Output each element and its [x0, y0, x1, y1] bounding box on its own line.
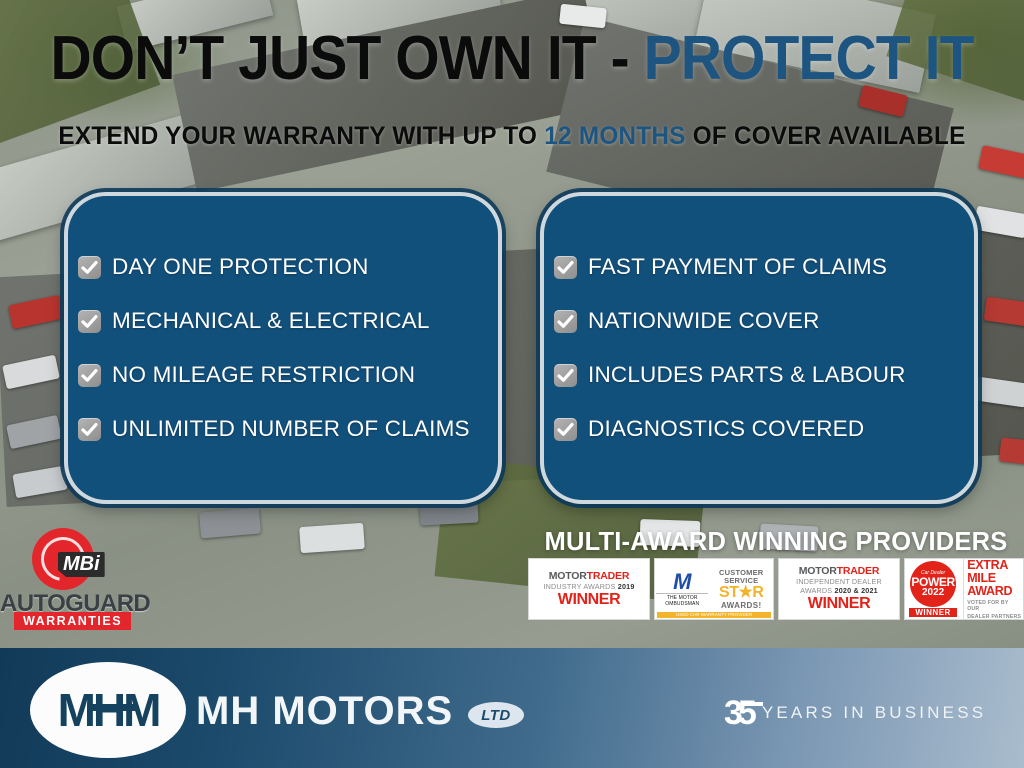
awards-heading: MULTI-AWARD WINNING PROVIDERS [528, 528, 1024, 557]
feature-label: NO MILEAGE RESTRICTION [112, 362, 415, 388]
badge-ribbon: USED CAR WARRANTY PROVIDER [657, 612, 771, 618]
check-icon [554, 256, 577, 279]
feature-label: DAY ONE PROTECTION [112, 254, 369, 280]
mhm-crossbar-icon [91, 704, 135, 711]
list-item: DIAGNOSTICS COVERED [554, 416, 960, 442]
feature-label: INCLUDES PARTS & LABOUR [588, 362, 906, 388]
award-badge-car-dealer-power: Car Dealer POWER 2022 WINNER EXTRA MILE … [904, 558, 1024, 620]
check-icon [78, 256, 101, 279]
ombudsman-label: THE MOTOR OMBUDSMAN [656, 593, 708, 607]
css-line-3: AWARDS! [710, 601, 772, 610]
extra-line-3: AWARD [967, 585, 1022, 598]
badge-brand-b: TRADER [837, 565, 880, 577]
extra-line-1: EXTRA [967, 559, 1022, 572]
extra-sub-2: DEALER PARTNERS [967, 614, 1022, 620]
feature-label: FAST PAYMENT OF CLAIMS [588, 254, 887, 280]
customer-service-awards-block: CUSTOMER SERVICE ST★R AWARDS! [710, 569, 772, 610]
extra-line-2: MILE [967, 572, 1022, 585]
badge-year: 2019 [618, 582, 635, 591]
badge-winner: WINNER [808, 595, 870, 612]
list-item: MECHANICAL & ELECTRICAL [78, 308, 484, 334]
power-year: 2022 [922, 588, 944, 598]
badge-line2-text: INDUSTRY AWARDS [543, 582, 617, 591]
years-number: 35 [724, 696, 752, 730]
ombudsman-mark-icon: M [673, 571, 691, 592]
check-icon [554, 418, 577, 441]
power-winner: WINNER [909, 608, 956, 617]
css-line-2: ST★R [710, 585, 772, 601]
check-icon [78, 418, 101, 441]
badge-winner: WINNER [558, 591, 620, 608]
list-item: NO MILEAGE RESTRICTION [78, 362, 484, 388]
list-item: UNLIMITED NUMBER OF CLAIMS [78, 416, 484, 442]
feature-label: MECHANICAL & ELECTRICAL [112, 308, 430, 334]
list-item: NATIONWIDE COVER [554, 308, 960, 334]
features-panel-right: FAST PAYMENT OF CLAIMS NATIONWIDE COVER … [540, 192, 978, 504]
award-badge-customer-service-star: M THE MOTOR OMBUDSMAN CUSTOMER SERVICE S… [654, 558, 774, 620]
badge-brand-a: MOTOR [799, 565, 837, 577]
mhm-monogram: MHM [58, 683, 159, 737]
motor-ombudsman-logo: M THE MOTOR OMBUDSMAN [656, 571, 708, 607]
feature-label: NATIONWIDE COVER [588, 308, 820, 334]
award-badge-motortrader-independent: MOTORTRADER INDEPENDENT DEALER AWARDS 20… [778, 558, 900, 620]
years-label: YEARS IN BUSINESS [762, 703, 986, 723]
list-item: INCLUDES PARTS & LABOUR [554, 362, 960, 388]
badge-year: 2020 & 2021 [835, 586, 878, 595]
feature-label: UNLIMITED NUMBER OF CLAIMS [112, 416, 470, 442]
page-title: DON’T JUST OWN IT - PROTECT IT [41, 24, 983, 94]
feature-list-right: FAST PAYMENT OF CLAIMS NATIONWIDE COVER … [544, 196, 974, 500]
years-number-text: 35 [724, 694, 752, 732]
mbi-autoguard-logo: MBi AUTOGUARD WARRANTIES [4, 528, 132, 626]
car-dealer-power-block: Car Dealer POWER 2022 WINNER [906, 561, 960, 617]
extra-sub-1: VOTED FOR BY OUR [967, 600, 1022, 612]
subheadline-text-1: EXTEND YOUR WARRANTY WITH UP TO [58, 122, 544, 150]
mbi-subtitle: WARRANTIES [14, 612, 131, 630]
badge-line2: INDEPENDENT DEALER [796, 577, 882, 586]
list-item: DAY ONE PROTECTION [78, 254, 484, 280]
feature-label: DIAGNOSTICS COVERED [588, 416, 864, 442]
award-badge-motortrader-industry: MOTORTRADER INDUSTRY AWARDS 2019 WINNER [528, 558, 650, 620]
check-icon [78, 310, 101, 333]
badge-brand: MOTORTRADER [799, 566, 879, 577]
badge-brand-b: TRADER [587, 570, 630, 582]
brand-name: MH MOTORS [196, 689, 453, 734]
headline-accent: PROTECT IT [644, 24, 974, 93]
years-in-business: 35 YEARS IN BUSINESS [724, 696, 986, 730]
headline-text: DON’T JUST OWN IT - [50, 24, 643, 93]
css-line-1: CUSTOMER SERVICE [710, 569, 772, 585]
badge-brand: MOTORTRADER [549, 571, 629, 582]
years-strike-icon [741, 702, 763, 706]
badge-line3-text: AWARDS [800, 586, 834, 595]
ltd-badge: LTD [468, 702, 524, 728]
page-subtitle: EXTEND YOUR WARRANTY WITH UP TO 12 MONTH… [15, 122, 1008, 151]
awards-badge-row: MOTORTRADER INDUSTRY AWARDS 2019 WINNER … [528, 558, 1024, 620]
features-panel-left: DAY ONE PROTECTION MECHANICAL & ELECTRIC… [64, 192, 502, 504]
check-icon [78, 364, 101, 387]
power-disc-icon: Car Dealer POWER 2022 [910, 561, 956, 607]
badge-brand-a: MOTOR [549, 570, 587, 582]
check-icon [554, 364, 577, 387]
footer-bar: MHM MH MOTORS LTD 35 YEARS IN BUSINESS [0, 648, 1024, 768]
list-item: FAST PAYMENT OF CLAIMS [554, 254, 960, 280]
mhm-logo: MHM [30, 662, 186, 758]
badge-line3: AWARDS 2020 & 2021 [800, 586, 878, 595]
mbi-mark: MBi [58, 552, 105, 577]
subheadline-text-2: OF COVER AVAILABLE [686, 122, 966, 150]
feature-list-left: DAY ONE PROTECTION MECHANICAL & ELECTRIC… [68, 196, 498, 500]
check-icon [554, 310, 577, 333]
badge-line2: INDUSTRY AWARDS 2019 [543, 582, 634, 591]
subheadline-accent: 12 MONTHS [544, 122, 685, 150]
extra-mile-award-block: EXTRA MILE AWARD VOTED FOR BY OUR DEALER… [963, 559, 1022, 620]
